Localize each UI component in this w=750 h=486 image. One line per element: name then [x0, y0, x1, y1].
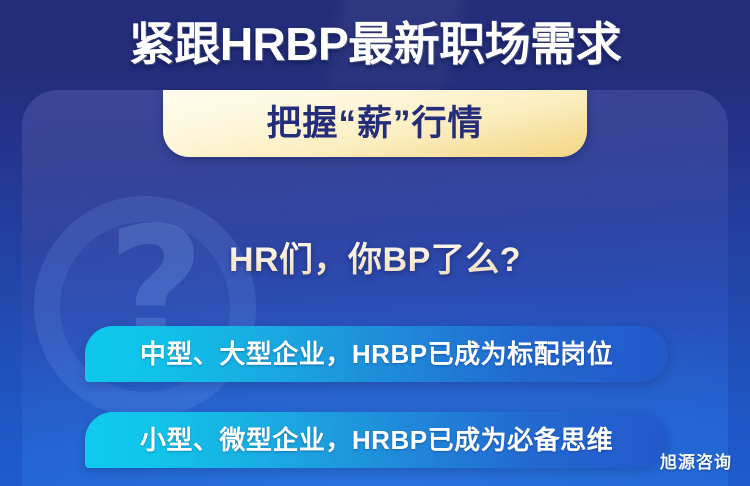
statement-bar-1: 中型、大型企业，HRBP已成为标配岗位 [85, 326, 668, 382]
page-title: 紧跟HRBP最新职场需求 [0, 16, 750, 72]
statement-bar-2: 小型、微型企业，HRBP已成为必备思维 [85, 412, 668, 468]
highlight-banner: 把握“薪”行情 [163, 90, 587, 157]
statement-bar-2-label: 小型、微型企业，HRBP已成为必备思维 [140, 424, 613, 456]
highlight-banner-label: 把握“薪”行情 [266, 104, 483, 144]
poster-canvas: ? 紧跟HRBP最新职场需求 把握“薪”行情 HR们，你BP了么? 中型、大型企… [0, 0, 750, 486]
statement-bar-1-label: 中型、大型企业，HRBP已成为标配岗位 [140, 338, 613, 370]
brand-watermark: 旭源咨询 [660, 452, 732, 474]
subheading: HR们，你BP了么? [0, 238, 750, 282]
